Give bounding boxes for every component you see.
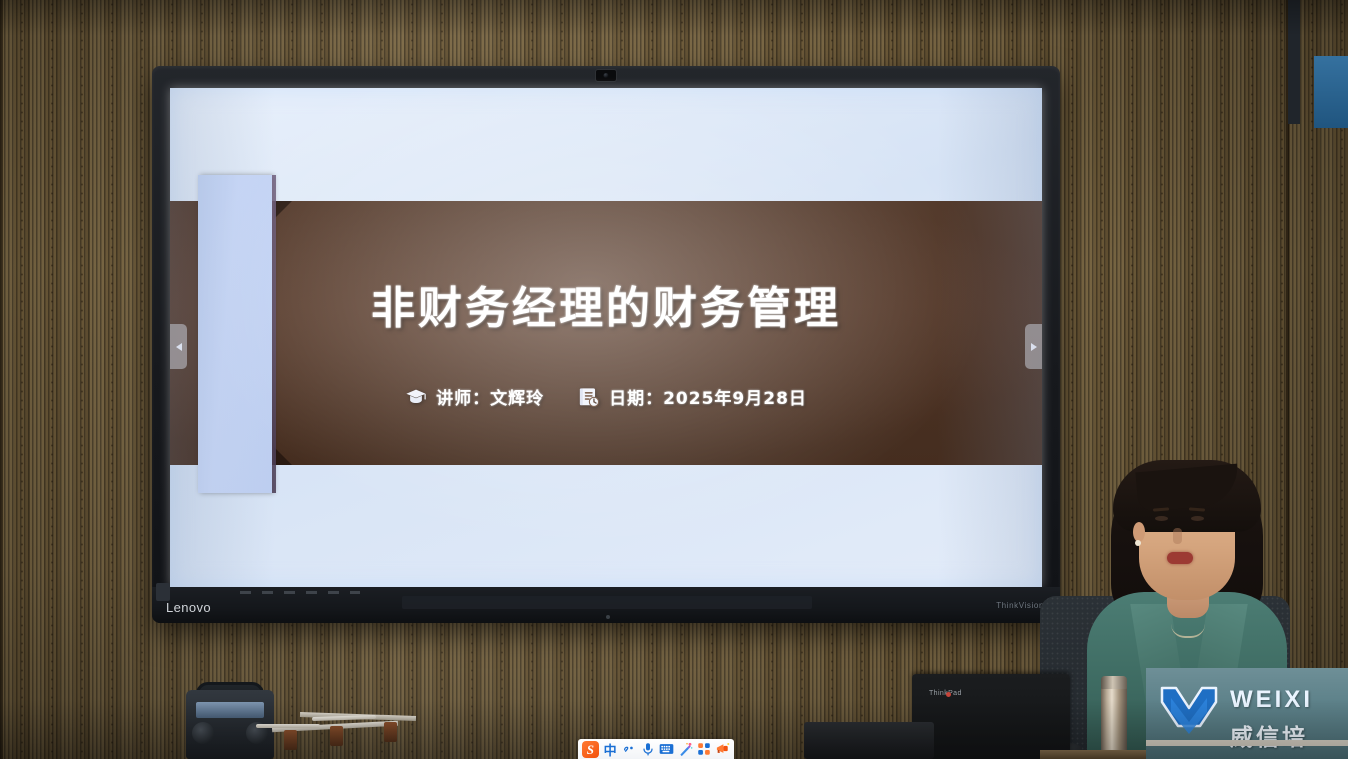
bezel-control-keys[interactable]: [240, 591, 360, 594]
app-grid-icon: [697, 742, 711, 756]
bezel-speaker-strip: [402, 596, 812, 609]
interactive-display: 非财务经理的财务管理 讲师：文辉玲: [152, 66, 1060, 623]
chevron-left-icon: [176, 343, 182, 351]
calendar-clock-icon: [578, 386, 600, 408]
presenter-earring: [1135, 540, 1141, 546]
punctuation-button[interactable]: [619, 739, 638, 759]
slide-date-label: 日期：2025年9月28日: [609, 384, 807, 409]
door-lower-panel: [1314, 56, 1348, 128]
slide-notch-bottom: [274, 447, 292, 465]
graduation-cap-icon: [405, 386, 427, 408]
door-frame: [1288, 0, 1300, 124]
thermos-cap: [1101, 676, 1127, 689]
rc-controller-screen: [196, 702, 264, 718]
slide-next-button[interactable]: [1025, 324, 1042, 369]
banner-bottom-edge: [1146, 740, 1348, 746]
slide-notch-top: [274, 201, 292, 219]
display-top-bezel: [152, 66, 1060, 88]
voice-input-button[interactable]: [638, 739, 657, 759]
language-mode-label: 中: [604, 740, 617, 759]
presenter-ear-left: [1133, 522, 1145, 542]
rc-stick-left[interactable]: [192, 722, 214, 744]
thinkpad-logo-icon: ThinkPad: [929, 690, 951, 699]
toolbox-button[interactable]: [694, 739, 713, 759]
presenter-mouth: [1167, 552, 1193, 564]
soft-keyboard-button[interactable]: [657, 739, 676, 759]
thinkpad-red-dot-icon: [946, 692, 951, 697]
slide-instructor-label: 讲师：文辉玲: [436, 384, 544, 409]
slide-instructor: 讲师：文辉玲: [405, 384, 544, 409]
presenter-eye-right: [1191, 516, 1204, 521]
secondary-laptop: [804, 722, 934, 759]
banner-chinese-text: 威信培: [1230, 718, 1308, 752]
slide-title: 非财务经理的财务管理: [170, 272, 1042, 336]
presenter-eye-left: [1155, 516, 1168, 521]
slide-date: 日期：2025年9月28日: [578, 384, 807, 409]
megaphone-icon: [715, 742, 730, 756]
display-brand-label: Lenovo: [166, 600, 211, 615]
slide-meta-row: 讲师：文辉玲 日期：2025年9月2: [170, 384, 1042, 409]
presentation-screen[interactable]: 非财务经理的财务管理 讲师：文辉玲: [170, 88, 1042, 587]
drone-motor: [384, 722, 397, 742]
skin-button[interactable]: [676, 739, 695, 759]
slide-prev-button[interactable]: [170, 324, 187, 369]
laptop: ThinkPad: [912, 674, 1070, 759]
more-button[interactable]: [713, 739, 732, 759]
classroom-scene: 非财务经理的财务管理 讲师：文辉玲: [0, 0, 1348, 759]
power-indicator-icon: [606, 615, 610, 619]
display-model-label: ThinkVision: [996, 601, 1044, 610]
thermos-bottle: [1101, 680, 1127, 759]
language-mode-button[interactable]: 中: [601, 739, 620, 759]
sogou-ime-toolbar[interactable]: S 中: [578, 739, 734, 759]
drone-motor: [330, 726, 343, 746]
banner-english-text: WEIXI: [1230, 686, 1313, 714]
sogou-s-logo[interactable]: S: [580, 739, 601, 759]
punctuation-icon: [622, 742, 636, 756]
microphone-icon: [641, 742, 655, 757]
presenter-nose: [1173, 528, 1182, 544]
chevron-right-icon: [1031, 343, 1037, 351]
keyboard-icon: [659, 743, 674, 755]
bezel-logo-plate: [156, 583, 170, 601]
drone-motor: [284, 730, 297, 750]
weixin-w-logo: [1158, 682, 1220, 740]
drone-propeller: [256, 724, 320, 728]
sogou-logo-glyph: S: [582, 741, 599, 758]
magic-wand-icon: [678, 742, 693, 757]
display-bottom-bezel: Lenovo ThinkVision: [152, 587, 1060, 623]
camera-lens-icon: [604, 73, 609, 78]
